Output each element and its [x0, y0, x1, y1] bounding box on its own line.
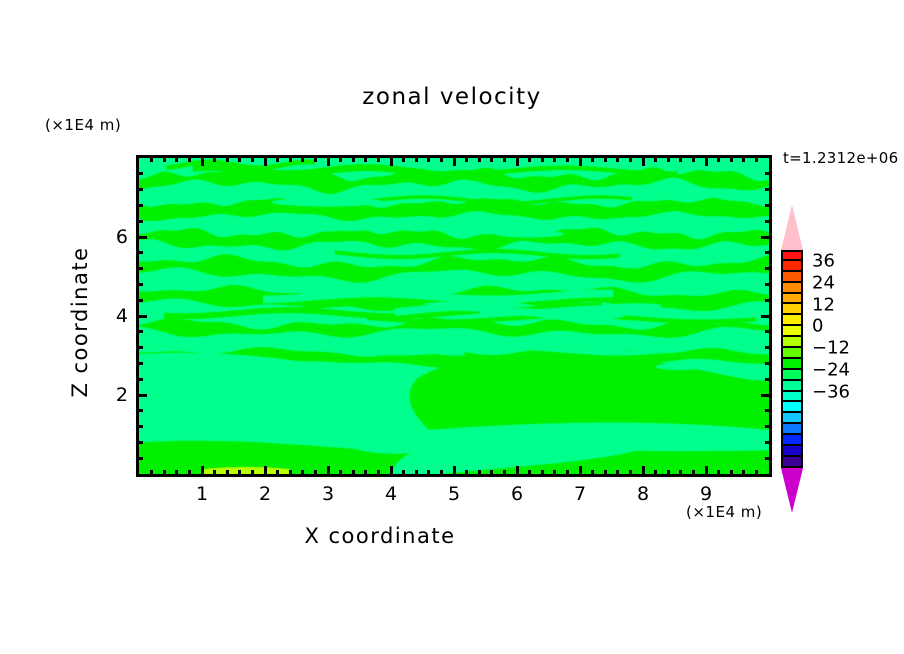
colorbar-label-layer: 3624120−12−24−36 [0, 0, 904, 654]
colorbar-tick-label: 0 [812, 316, 823, 337]
colorbar-tick-label: −24 [812, 359, 850, 380]
colorbar-tick-label: 36 [812, 250, 835, 271]
colorbar-tick-label: −12 [812, 338, 850, 359]
colorbar-tick-label: 12 [812, 294, 835, 315]
colorbar-tick-label: −36 [812, 381, 850, 402]
colorbar-tick-label: 24 [812, 272, 835, 293]
